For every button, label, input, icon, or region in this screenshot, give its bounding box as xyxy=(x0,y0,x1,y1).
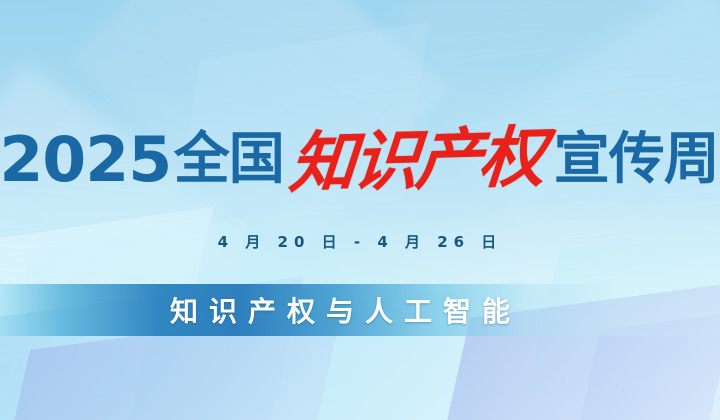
title-highlight-intellectual-property: 知识产权 xyxy=(287,124,545,197)
title-nationwide: 全国 xyxy=(174,132,284,188)
banner-title: 2025 全国 知识产权 宣传周 xyxy=(0,112,720,208)
title-publicity-week: 宣传周 xyxy=(554,132,719,188)
background-decoration-layer xyxy=(0,0,720,420)
subtitle-banner-bar: 知识产权与人工智能 xyxy=(0,284,720,336)
title-year: 2025 xyxy=(0,129,171,191)
event-date-range: 4 月 20 日 - 4 月 26 日 xyxy=(0,231,720,252)
subtitle-theme-text: 知识产权与人工智能 xyxy=(170,290,521,330)
ip-week-promo-banner: 2025 全国 知识产权 宣传周 4 月 20 日 - 4 月 26 日 知识产… xyxy=(0,0,720,420)
